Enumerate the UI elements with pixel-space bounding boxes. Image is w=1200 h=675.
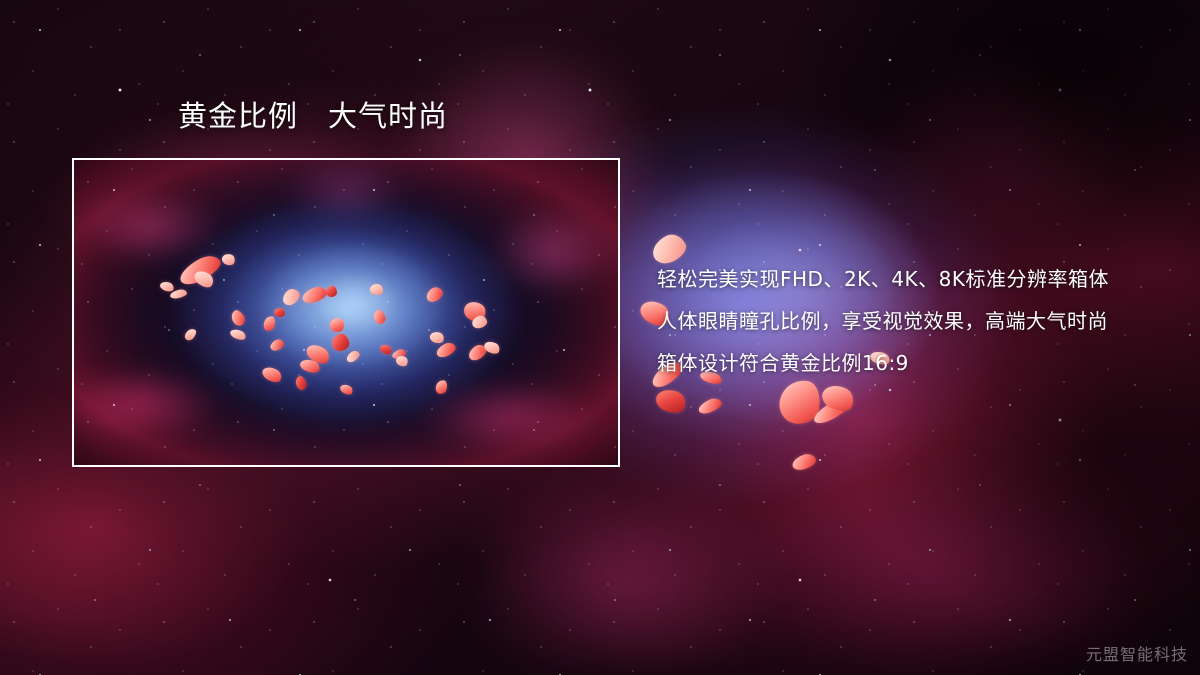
body-copy-line: 人体眼睛瞳孔比例，享受视觉效果，高端大气时尚: [657, 300, 1177, 342]
preview-image-frame: [72, 158, 620, 467]
presentation-slide: 黄金比例 大气时尚 轻松完美实现FHD、2K、4K、8K标准分辨率箱体 人体眼睛…: [0, 0, 1200, 675]
watermark: 元盟智能科技: [1086, 641, 1188, 665]
body-copy-line: 箱体设计符合黄金比例16:9: [657, 342, 1177, 384]
petal: [790, 452, 817, 473]
preview-vignette: [74, 160, 618, 465]
page-title: 黄金比例 大气时尚: [178, 101, 448, 133]
petal: [653, 386, 689, 417]
body-copy-line: 轻松完美实现FHD、2K、4K、8K标准分辨率箱体: [657, 258, 1177, 300]
petal: [697, 396, 724, 416]
petal: [326, 286, 337, 297]
body-copy-block: 轻松完美实现FHD、2K、4K、8K标准分辨率箱体 人体眼睛瞳孔比例，享受视觉效…: [657, 258, 1177, 384]
